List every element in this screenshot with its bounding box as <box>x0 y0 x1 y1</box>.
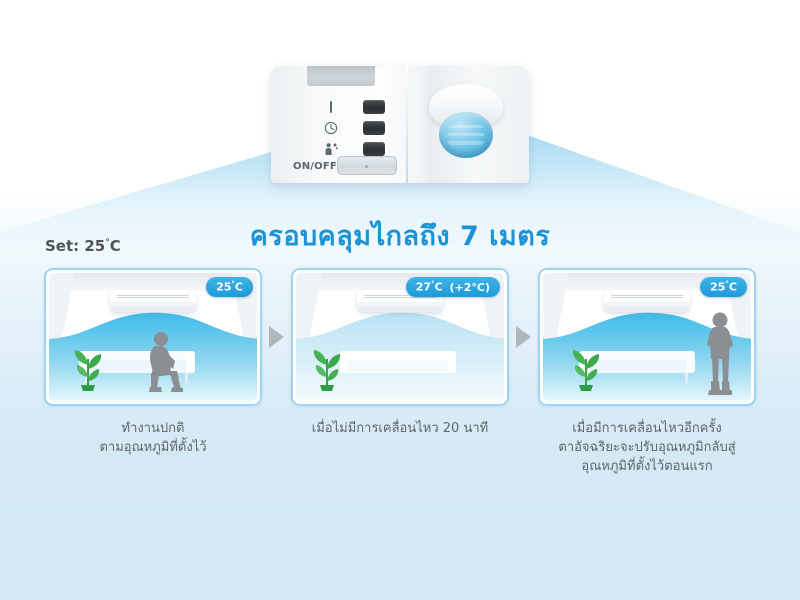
device-panel-seam <box>406 66 408 183</box>
sensor-remote-device: ON/OFF <box>271 66 529 183</box>
arrow-right-icon <box>269 326 284 348</box>
set-temperature-label: Set: 25°C <box>45 237 121 255</box>
caption-motion-resumed: เมื่อมีการเคลื่อนไหวอีกครั้ง ตาอัจฉริยะจ… <box>538 420 756 477</box>
led-human-sensor <box>363 142 385 156</box>
badge-unit: C <box>435 281 443 294</box>
badge-temp: 25 <box>710 281 725 294</box>
panel-normal-operation: 25°C <box>44 268 262 406</box>
caption-line: ทำงานปกติ <box>44 420 262 439</box>
infographic-stage: ON/OFF ครอบคลุมไกลถึง 7 เมตร Set: 25°C <box>0 0 800 600</box>
power-bar-icon <box>323 99 339 115</box>
person-sitting-silhouette <box>137 331 195 393</box>
caption-line: อุณหภูมิที่ตั้งไว้ตอนแรก <box>538 458 756 477</box>
timer-clock-icon <box>323 120 339 136</box>
arrow-step-1-to-2 <box>262 268 291 406</box>
potted-plant <box>567 339 605 391</box>
potted-plant <box>308 339 346 391</box>
person-standing-silhouette <box>701 311 741 397</box>
sensor-eye-icon <box>439 112 493 158</box>
led-power <box>363 100 385 114</box>
onoff-button[interactable] <box>337 156 397 175</box>
indicator-row-timer <box>323 119 385 136</box>
temperature-badge: 25°C <box>206 277 253 297</box>
device-display-slot <box>307 66 375 86</box>
arrow-step-2-to-3 <box>509 268 538 406</box>
caption-spacer <box>509 420 538 477</box>
air-conditioner-unit <box>604 290 690 312</box>
badge-note: (+2°C) <box>450 281 491 294</box>
set-temperature-value: Set: 25 <box>45 237 105 255</box>
badge-unit: C <box>235 281 243 294</box>
panel-motion-resumed: 25°C <box>538 268 756 406</box>
panel-no-motion: 27°C (+2°C) <box>291 268 509 406</box>
temperature-badge: 27°C (+2°C) <box>406 277 500 297</box>
human-sensor-icon <box>323 141 339 157</box>
caption-normal-operation: ทำงานปกติ ตามอุณหภูมิที่ตั้งไว้ <box>44 420 262 477</box>
badge-temp: 25 <box>216 281 231 294</box>
onoff-label: ON/OFF <box>293 161 337 172</box>
badge-temp: 27 <box>416 281 431 294</box>
led-timer <box>363 121 385 135</box>
indicator-row-power <box>323 98 385 115</box>
panel-captions: ทำงานปกติ ตามอุณหภูมิที่ตั้งไว้ เมื่อไม่… <box>44 420 756 477</box>
caption-no-motion: เมื่อไม่มีการเคลื่อนไหว 20 นาที <box>291 420 509 477</box>
caption-line: ตามอุณหภูมิที่ตั้งไว้ <box>44 439 262 458</box>
air-conditioner-unit <box>110 290 196 312</box>
badge-unit: C <box>729 281 737 294</box>
set-temperature-unit: C <box>110 237 121 255</box>
caption-spacer <box>262 420 291 477</box>
scenario-panels: 25°C <box>44 268 756 408</box>
sofa <box>338 339 458 387</box>
caption-line: ตาอัจฉริยะจะปรับอุณหภูมิกลับสู่ <box>538 439 756 458</box>
temperature-badge: 25°C <box>700 277 747 297</box>
caption-line: เมื่อไม่มีการเคลื่อนไหว 20 นาที <box>291 420 509 439</box>
indicator-row-human-sensor <box>323 140 385 157</box>
caption-line: เมื่อมีการเคลื่อนไหวอีกครั้ง <box>538 420 756 439</box>
potted-plant <box>69 339 107 391</box>
arrow-right-icon <box>516 326 531 348</box>
